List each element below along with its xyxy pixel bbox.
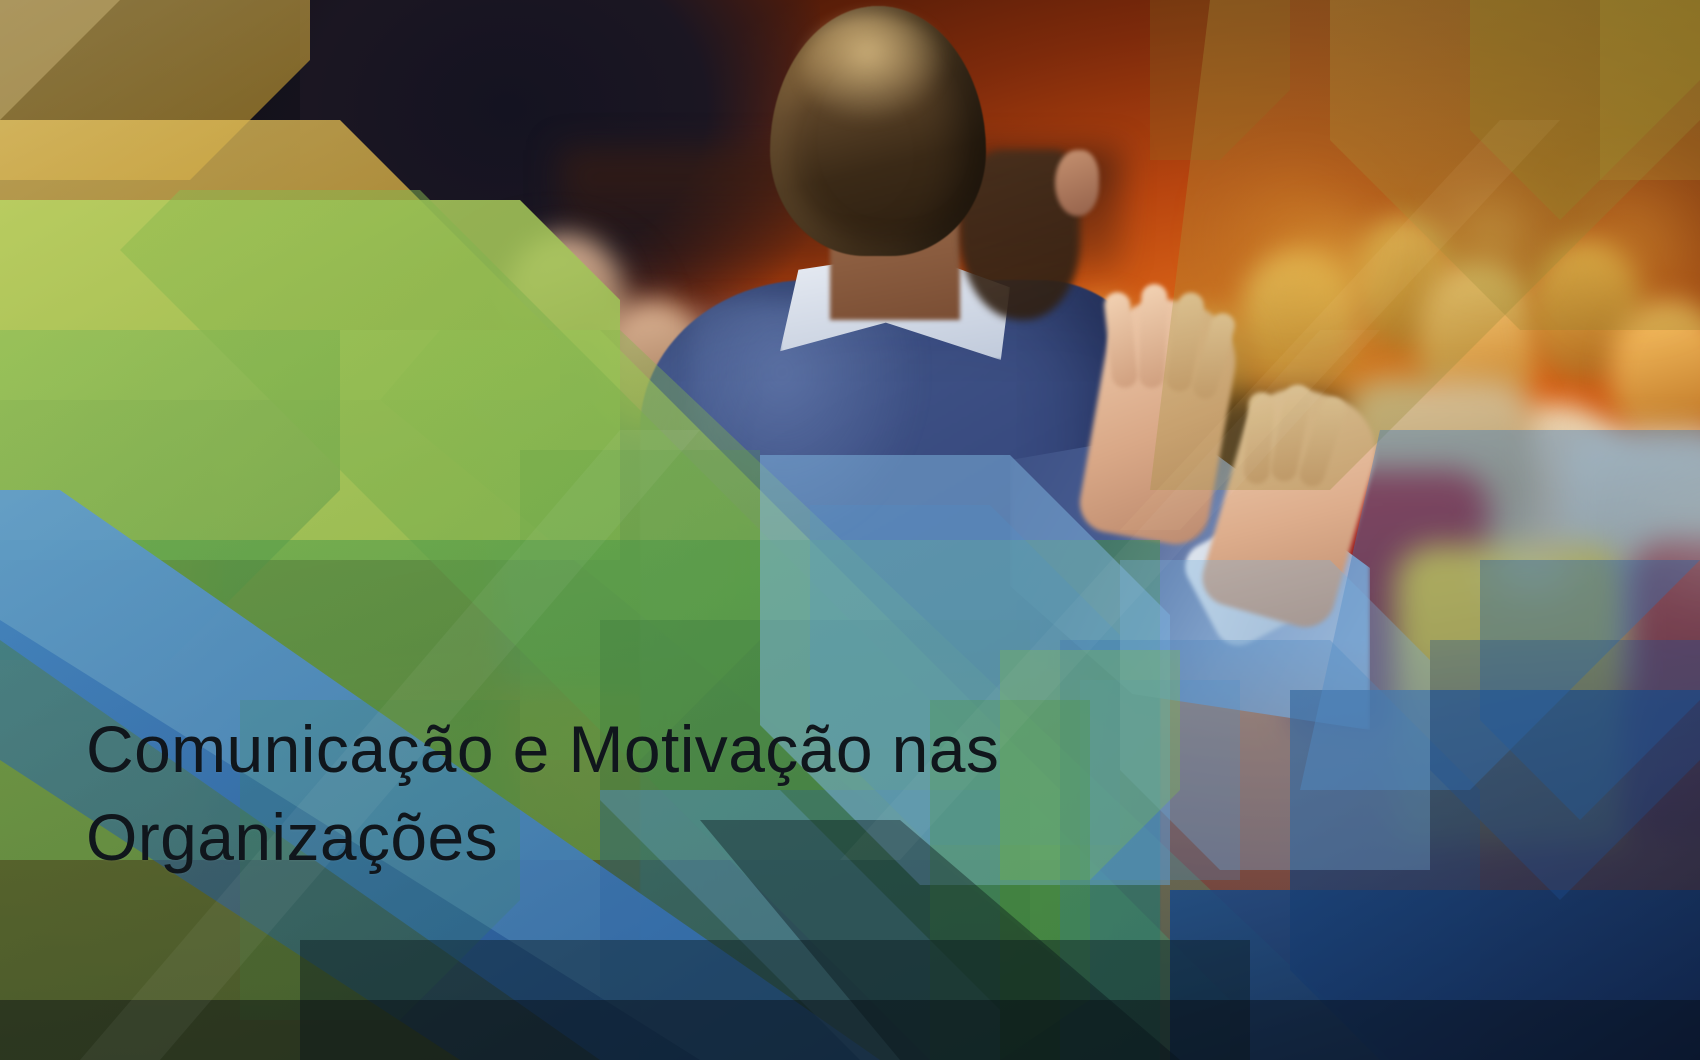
geometric-overlay bbox=[0, 0, 1700, 1060]
banner-title: Comunicação e Motivação nas Organizações bbox=[86, 706, 1086, 882]
overlay-plate-dark-bottom-2 bbox=[0, 1000, 1700, 1060]
overlay-plate-olive-tr-4 bbox=[1600, 0, 1700, 180]
course-banner: Comunicação e Motivação nas Organizações bbox=[0, 0, 1700, 1060]
